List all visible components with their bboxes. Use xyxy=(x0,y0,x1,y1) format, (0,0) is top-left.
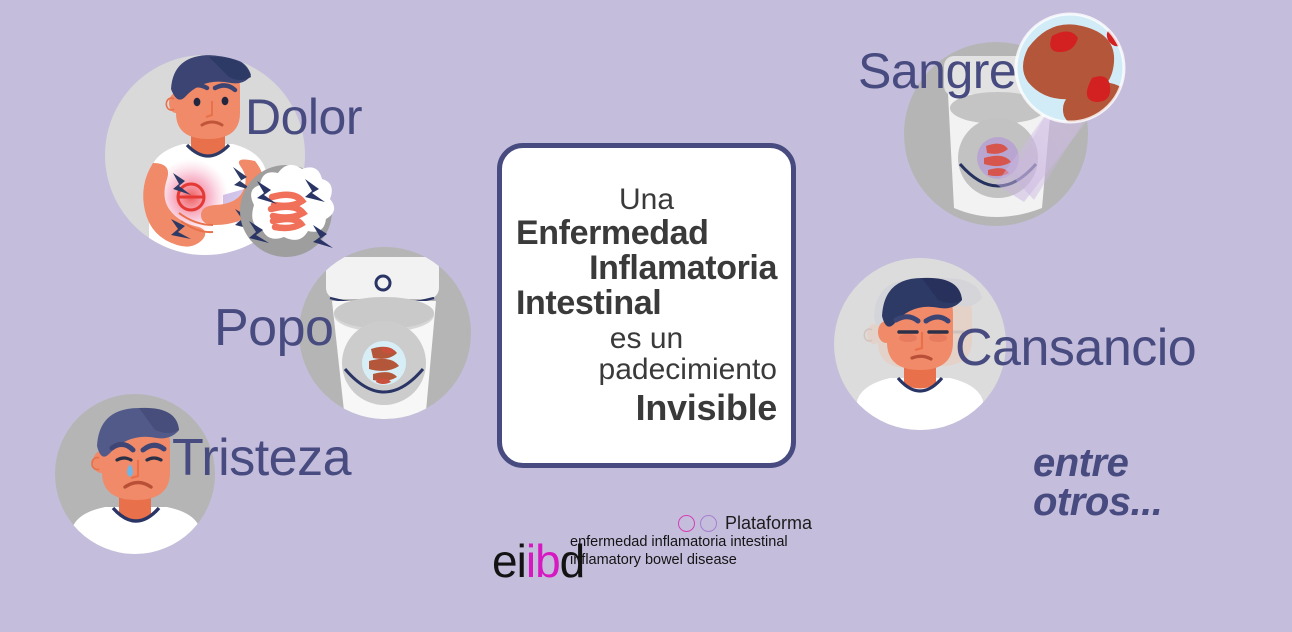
circle-magenta-icon xyxy=(678,515,695,532)
card-line-enfermedad: Enfermedad xyxy=(516,216,777,251)
organization-logo: eiibd Plataforma enfermedad inflamatoria… xyxy=(492,512,812,584)
logo-letter-e: e xyxy=(492,535,517,587)
symptom-label-sangre: Sangre xyxy=(858,46,1016,96)
symptom-label-tristeza: Tristeza xyxy=(172,432,351,484)
tagline-spanish: enfermedad inflamatoria intestinal xyxy=(570,534,812,552)
card-line-inflamatoria: Inflamatoria xyxy=(516,251,777,286)
footnote-entre-otros: entre otros... xyxy=(1033,444,1162,522)
circle-purple-icon xyxy=(700,515,717,532)
card-line-una: Una xyxy=(516,185,777,216)
card-line-invisible: Invisible xyxy=(516,390,777,427)
card-line-intestinal: Intestinal xyxy=(516,286,777,321)
infographic-poster: Dolor Popo Tristeza Sangre Cansancio ent… xyxy=(0,0,1292,632)
tagline-english: inflamatory bowel disease xyxy=(570,552,812,570)
illustration-dolor xyxy=(105,45,340,265)
logo-letter-b: b xyxy=(535,535,560,587)
symptom-label-cansancio: Cansancio xyxy=(955,322,1196,374)
person-abdominal-pain-icon xyxy=(105,45,340,265)
platform-label: Plataforma xyxy=(725,514,812,532)
platform-row: Plataforma xyxy=(570,512,812,534)
symptom-label-dolor: Dolor xyxy=(245,92,362,142)
card-line-es-un: es un xyxy=(516,324,777,355)
symptom-label-popo: Popo xyxy=(214,302,333,354)
logo-text-block: Plataforma enfermedad inflamatoria intes… xyxy=(570,512,812,569)
card-line-padecimiento: padecimiento xyxy=(516,355,777,386)
logo-letter-i2: i xyxy=(526,535,535,587)
logo-letter-i1: i xyxy=(517,535,526,587)
message-card: Una Enfermedad Inflamatoria Intestinal e… xyxy=(497,143,796,468)
